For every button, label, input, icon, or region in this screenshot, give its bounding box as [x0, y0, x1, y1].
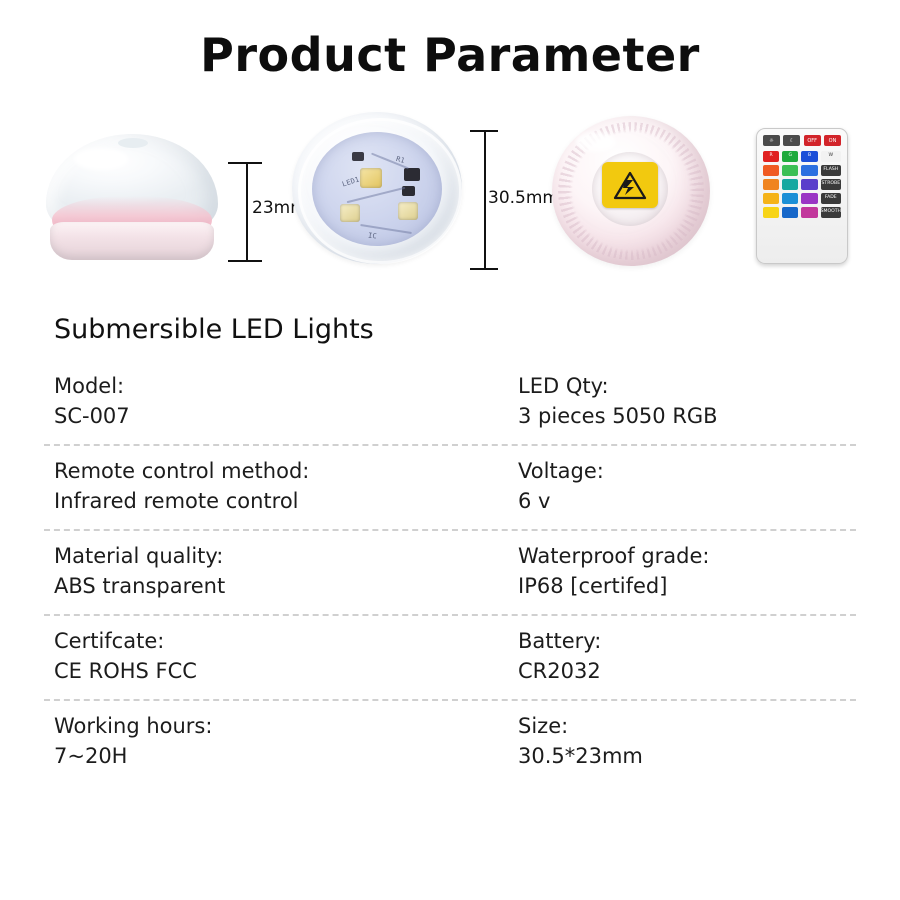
spec-key: LED Qty:	[518, 371, 856, 401]
spec-key: Material quality:	[54, 541, 450, 571]
spec-key: Size:	[518, 711, 856, 741]
remote-key-color-14[interactable]	[801, 193, 817, 204]
product-image-row: 23mm LED1 R1 IC 30.5mm	[0, 104, 900, 304]
dimension-line	[246, 162, 248, 262]
product-name-heading: Submersible LED Lights	[54, 314, 856, 345]
dimension-tick-bottom	[228, 260, 262, 262]
remote-off-button[interactable]: OFF	[804, 135, 821, 146]
spec-row: Certifcate: CE ROHS FCC Battery: CR2032	[44, 616, 856, 701]
led-rim	[298, 118, 462, 264]
submersible-led-side-view	[46, 134, 218, 262]
remote-key-color-12[interactable]	[763, 193, 779, 204]
warning-triangle-icon	[602, 162, 658, 208]
spec-value: IP68 [certifed]	[518, 571, 856, 601]
specification-section: Submersible LED Lights Model: SC-007 LED…	[44, 314, 856, 783]
led-base	[50, 222, 214, 260]
page-title: Product Parameter	[0, 0, 900, 82]
remote-key-color-6[interactable]	[801, 165, 817, 176]
diameter-tick-bottom	[470, 268, 498, 270]
remote-key-color-17[interactable]	[782, 207, 798, 218]
spec-value: SC-007	[54, 401, 450, 431]
remote-on-button[interactable]: ON	[824, 135, 841, 146]
remote-key-color-9[interactable]	[782, 179, 798, 190]
spec-cell-led-qty: LED Qty: 3 pieces 5050 RGB	[450, 371, 856, 432]
remote-key-color-4[interactable]	[763, 165, 779, 176]
dimension-tick-top	[228, 162, 262, 164]
spec-row: Remote control method: Infrared remote c…	[44, 446, 856, 531]
remote-key-fade[interactable]: FADE	[821, 193, 841, 204]
remote-key-w[interactable]: W	[821, 151, 841, 162]
led-top-notch	[118, 138, 148, 148]
spec-cell-size: Size: 30.5*23mm	[450, 711, 856, 772]
spec-row: Working hours: 7~20H Size: 30.5*23mm	[44, 701, 856, 784]
spec-key: Remote control method:	[54, 456, 450, 486]
remote-brightness-up-button[interactable]: ☼	[763, 135, 780, 146]
spec-value: CR2032	[518, 656, 856, 686]
spec-value: 6 v	[518, 486, 856, 516]
spec-value: Infrared remote control	[54, 486, 450, 516]
spec-value: ABS transparent	[54, 571, 450, 601]
spec-key: Model:	[54, 371, 450, 401]
led-highlight	[74, 148, 128, 170]
remote-key-color-8[interactable]	[763, 179, 779, 190]
led-bottom-highlight	[576, 132, 616, 152]
dimension-height-bracket: 23mm	[228, 162, 274, 262]
spec-cell-battery: Battery: CR2032	[450, 626, 856, 687]
remote-key-smooth[interactable]: SMOOTH	[821, 207, 841, 218]
remote-key-r[interactable]: R	[763, 151, 779, 162]
remote-key-color-5[interactable]	[782, 165, 798, 176]
submersible-led-bottom-view	[552, 116, 712, 268]
dimension-diameter-label: 30.5mm	[488, 188, 559, 208]
spec-row: Material quality: ABS transparent Waterp…	[44, 531, 856, 616]
spec-cell-waterproof: Waterproof grade: IP68 [certifed]	[450, 541, 856, 602]
remote-keypad[interactable]: RGBWFLASHSTROBEFADESMOOTH	[763, 151, 841, 218]
spec-value: 3 pieces 5050 RGB	[518, 401, 856, 431]
spec-cell-voltage: Voltage: 6 v	[450, 456, 856, 517]
spec-key: Working hours:	[54, 711, 450, 741]
spec-key: Battery:	[518, 626, 856, 656]
spec-row: Model: SC-007 LED Qty: 3 pieces 5050 RGB	[44, 361, 856, 446]
spec-key: Voltage:	[518, 456, 856, 486]
spec-cell-model: Model: SC-007	[44, 371, 450, 432]
spec-cell-remote-method: Remote control method: Infrared remote c…	[44, 456, 450, 517]
spec-cell-working-hours: Working hours: 7~20H	[44, 711, 450, 772]
spec-cell-certificate: Certifcate: CE ROHS FCC	[44, 626, 450, 687]
remote-key-color-10[interactable]	[801, 179, 817, 190]
ir-remote-control[interactable]: ☼ ☾ OFF ON RGBWFLASHSTROBEFADESMOOTH	[756, 128, 848, 264]
spec-value: 7~20H	[54, 741, 450, 771]
remote-top-row: ☼ ☾ OFF ON	[763, 135, 841, 146]
spec-key: Waterproof grade:	[518, 541, 856, 571]
remote-key-b[interactable]: B	[801, 151, 817, 162]
remote-brightness-down-button[interactable]: ☾	[783, 135, 800, 146]
submersible-led-pcb-top-view: LED1 R1 IC	[292, 112, 464, 272]
remote-key-color-16[interactable]	[763, 207, 779, 218]
remote-key-color-18[interactable]	[801, 207, 817, 218]
spec-value: CE ROHS FCC	[54, 656, 450, 686]
remote-key-g[interactable]: G	[782, 151, 798, 162]
spec-cell-material: Material quality: ABS transparent	[44, 541, 450, 602]
remote-key-color-13[interactable]	[782, 193, 798, 204]
remote-key-strobe[interactable]: STROBE	[821, 179, 841, 190]
dimension-diameter-bracket: 30.5mm	[470, 130, 550, 270]
diameter-line	[484, 130, 486, 270]
remote-key-flash[interactable]: FLASH	[821, 165, 841, 176]
spec-key: Certifcate:	[54, 626, 450, 656]
spec-value: 30.5*23mm	[518, 741, 856, 771]
